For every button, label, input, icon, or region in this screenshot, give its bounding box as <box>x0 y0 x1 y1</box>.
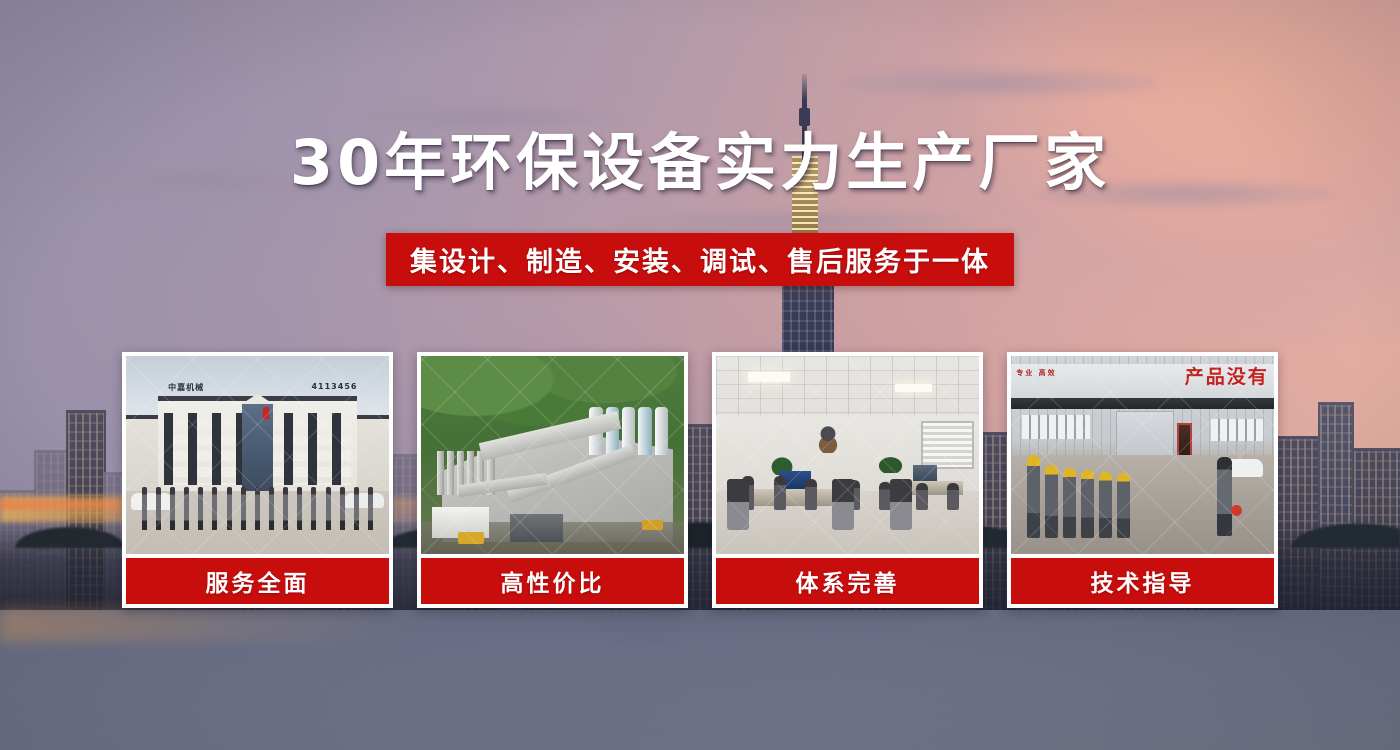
page-title: 30年环保设备实力生产厂家 <box>0 132 1400 194</box>
subtitle-text: 集设计、制造、安装、调试、售后服务于一体 <box>410 240 990 279</box>
card-caption-text: 高性价比 <box>501 564 605 598</box>
feature-card[interactable]: 中嘉机械 4113456 服务全面 <box>122 352 393 608</box>
feature-card[interactable]: 体系完善 <box>712 352 983 608</box>
feature-card-row: 中嘉机械 4113456 服务全面 <box>122 352 1278 608</box>
river-light-reflection <box>0 608 420 642</box>
card-caption-bar: 技术指导 <box>1011 558 1274 604</box>
card-caption-bar: 服务全面 <box>126 558 389 604</box>
cloud-shape <box>840 68 1160 98</box>
card-photo-worker-briefing: 专业 高效 产品没有 <box>1011 356 1274 554</box>
building-phone-text: 4113456 <box>311 382 357 391</box>
card-caption-bar: 体系完善 <box>716 558 979 604</box>
card-caption-text: 体系完善 <box>796 564 900 598</box>
card-photo-industrial-plant <box>421 356 684 554</box>
card-caption-text: 技术指导 <box>1091 564 1195 598</box>
worker-lineup <box>1027 455 1137 538</box>
feature-card[interactable]: 高性价比 <box>417 352 688 608</box>
supervisor-figure <box>1217 457 1232 536</box>
card-caption-text: 服务全面 <box>206 564 310 598</box>
staff-lineup <box>142 487 373 531</box>
factory-slogan-text: 专业 高效 <box>1016 368 1056 379</box>
feature-card[interactable]: 专业 高效 产品没有 技术指导 <box>1007 352 1278 608</box>
card-photo-office-interior <box>716 356 979 554</box>
card-photo-headquarters: 中嘉机械 4113456 <box>126 356 389 554</box>
factory-signage-text: 产品没有 <box>1185 362 1269 389</box>
card-caption-bar: 高性价比 <box>421 558 684 604</box>
banner-stage: 30年环保设备实力生产厂家 集设计、制造、安装、调试、售后服务于一体 中嘉机械 … <box>0 0 1400 750</box>
subtitle-bar: 集设计、制造、安装、调试、售后服务于一体 <box>386 233 1014 286</box>
building-signage-text: 中嘉机械 <box>168 382 204 393</box>
